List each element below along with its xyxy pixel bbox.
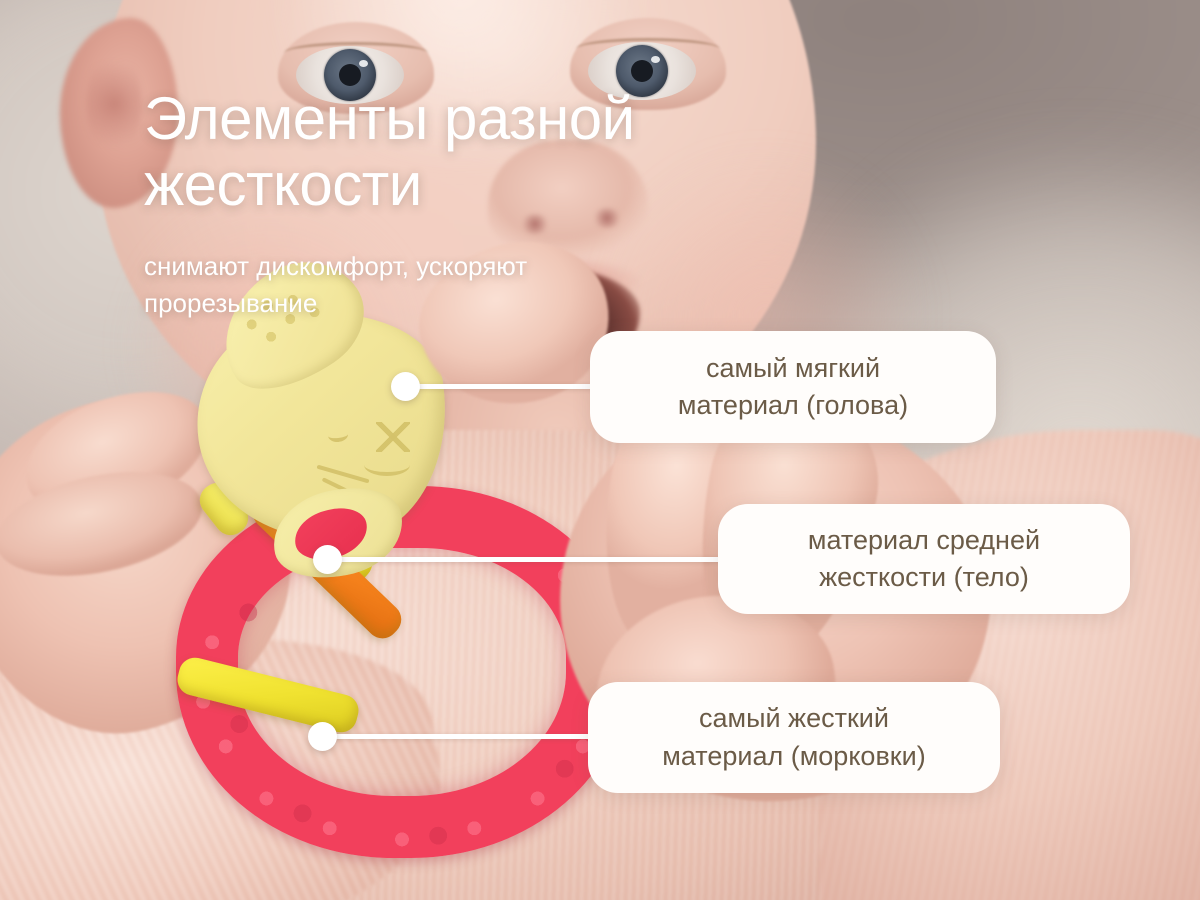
callout-2-line-2: жесткости (тело) — [819, 562, 1029, 592]
pupil — [339, 64, 361, 86]
knit-shoulder-right — [820, 430, 1200, 900]
leader-line-1 — [400, 384, 605, 389]
callout-medium-stiffness-body: материал средней жесткости (тело) — [718, 504, 1130, 614]
leader-line-3 — [322, 734, 598, 739]
baby-ear-inner — [86, 52, 142, 156]
callout-2-line-1: материал средней — [808, 525, 1040, 555]
pupil — [631, 60, 653, 82]
page-title: Элементы разной жесткости — [144, 86, 844, 218]
callout-3-line-2: материал (морковки) — [662, 741, 925, 771]
callout-text-1: самый мягкий материал (голова) — [678, 350, 908, 425]
eyelash — [576, 38, 720, 60]
page-subtitle-line-2: прорезывание — [144, 285, 764, 322]
page-subtitle-line-1: снимают дискомфорт, ускоряют — [144, 248, 764, 285]
callout-text-2: материал средней жесткости (тело) — [808, 522, 1040, 597]
page-title-line-2: жесткости — [144, 152, 844, 218]
eyelash — [284, 42, 428, 64]
promo-banner: Элементы разной жесткости снимают диском… — [0, 0, 1200, 900]
leader-dot-1 — [391, 372, 420, 401]
callout-text-3: самый жесткий материал (морковки) — [662, 700, 925, 775]
page-title-line-1: Элементы разной — [144, 86, 844, 152]
callout-softest-material-head: самый мягкий материал (голова) — [590, 331, 996, 443]
leader-dot-3 — [308, 722, 337, 751]
callout-1-line-2: материал (голова) — [678, 390, 908, 420]
page-subtitle: снимают дискомфорт, ускоряют прорезывани… — [144, 248, 764, 322]
leader-dot-2 — [313, 545, 342, 574]
callout-1-line-1: самый мягкий — [706, 353, 880, 383]
callout-hardest-material-carrots: самый жесткий материал (морковки) — [588, 682, 1000, 793]
callout-3-line-1: самый жесткий — [699, 703, 889, 733]
leader-line-2 — [327, 557, 727, 562]
